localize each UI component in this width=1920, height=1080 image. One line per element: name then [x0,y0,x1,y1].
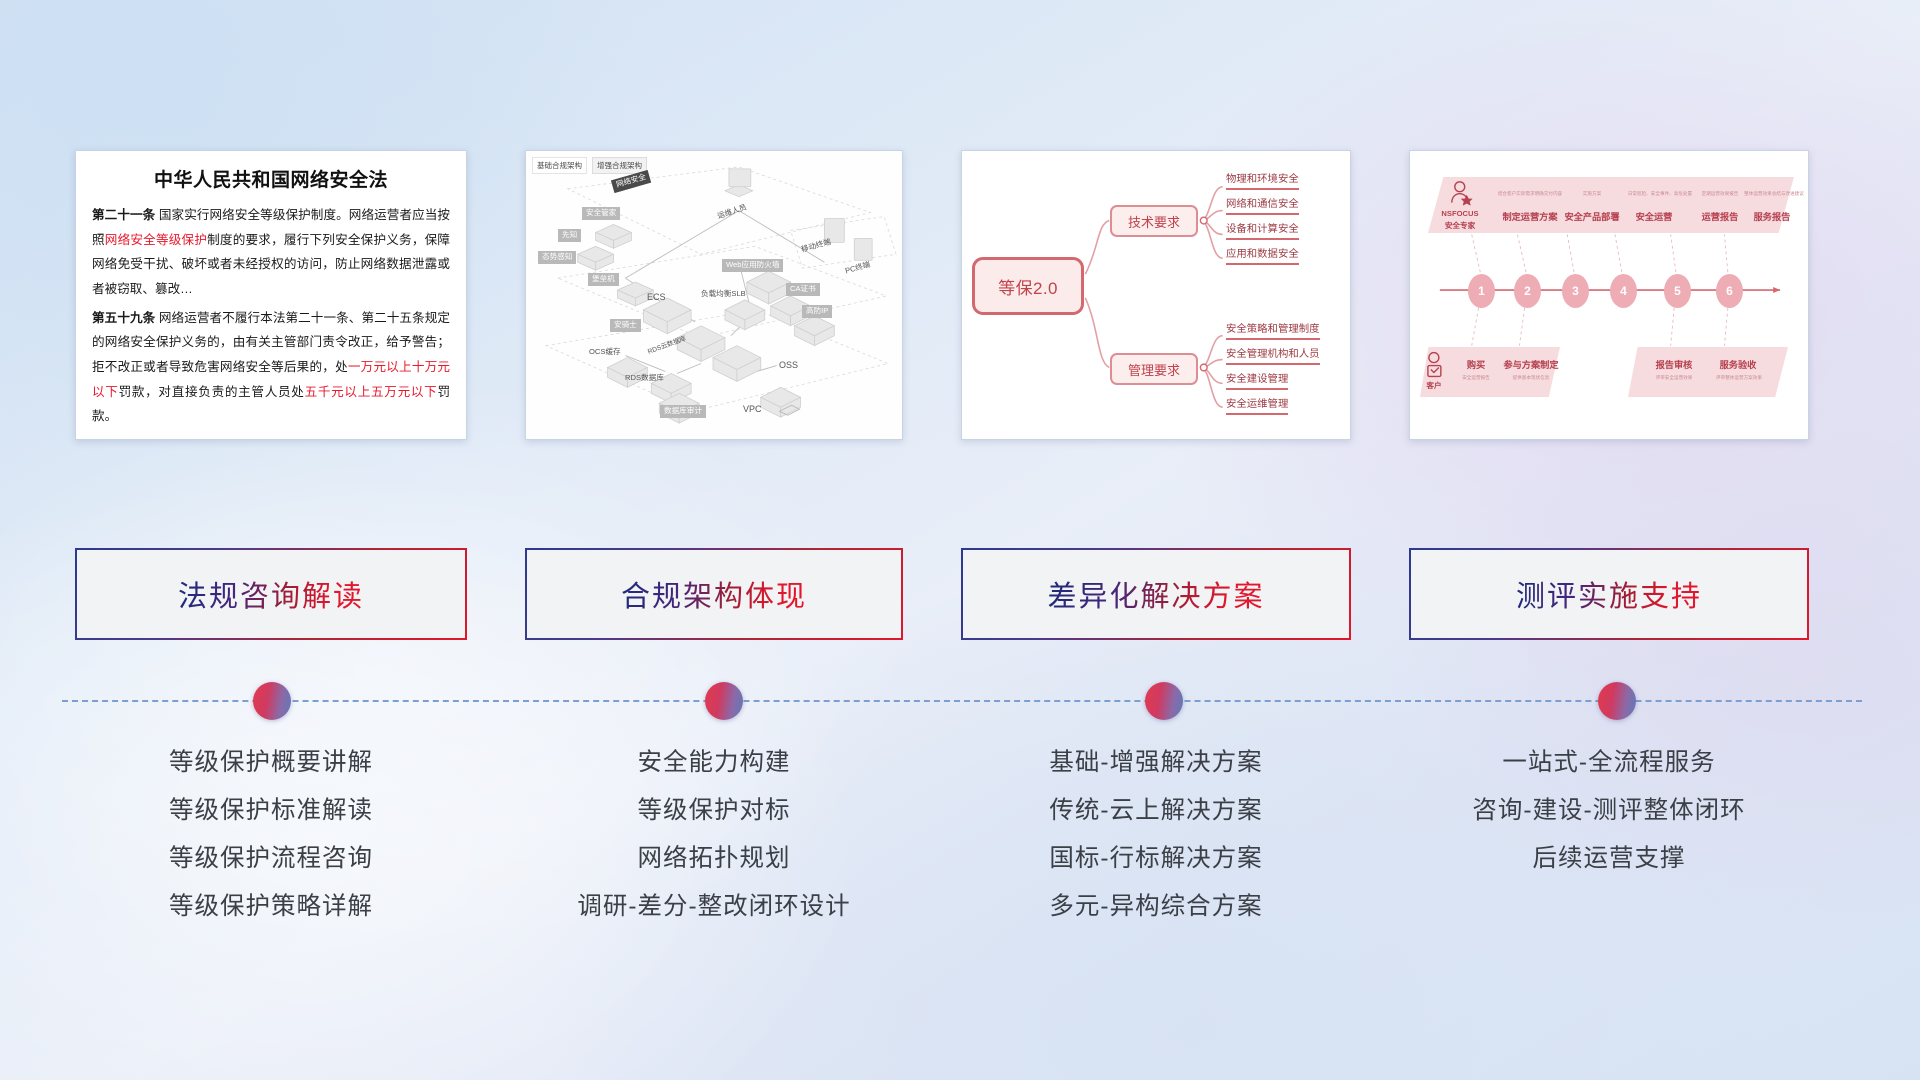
list-item: 一站式-全流程服务 [1502,742,1715,784]
list-item: 基础-增强解决方案 [1049,742,1262,784]
arch-node-anti-ddos-ip: 高防IP [802,305,832,318]
timeline-dot-2 [705,682,743,720]
headline-box-compliance-architecture[interactable]: 合规架构体现 [525,548,903,640]
mindmap-leaf-network-communication: 网络和通信安全 [1226,198,1299,215]
flow-bottom-sub-1: 安全运营报告 [1450,375,1502,381]
card-service-flow[interactable]: NSFOCUS 安全专家 客户 结合客户实际需求明确交付内容 制定运营方案 实施… [1409,150,1809,440]
flow-bottom-sub-4: 评审整体运营方案效果 [1704,375,1774,381]
arch-node-slb: 负载均衡SLB [698,289,749,300]
feature-lists-row: 等级保护概要讲解 等级保护标准解读 等级保护流程咨询 等级保护策略详解 安全能力… [75,742,1845,982]
article-21-label: 第二十一条 [92,208,155,222]
mindmap-root-node: 等保2.0 [972,257,1084,315]
architecture-diagram: 基础合规架构 增强合规架构 网络安全 安全管家 先知 态势感知 堡垒机 安骑士 … [526,151,902,439]
article-21-highlight: 网络安全等级保护 [105,233,207,247]
arch-node-oss: OSS [776,359,801,371]
mindmap-branch-management: 管理要求 [1110,353,1198,385]
list-item: 多元-异构综合方案 [1049,886,1262,928]
tag-basic-architecture: 基础合规架构 [532,157,587,174]
list-item: 咨询-建设-测评整体闭环 [1472,790,1745,832]
headline-label-2: 合规架构体现 [621,573,807,615]
flow-step-node-2: 2 [1514,274,1541,308]
flow-bottom-sub-2: 提供基本现状信息 [1500,375,1562,381]
list-item: 国标-行标解决方案 [1049,838,1262,880]
arch-node-waf: Web应用防火墙 [722,259,783,272]
list-item: 后续运营支撑 [1533,838,1686,880]
card-compliance-architecture[interactable]: 基础合规架构 增强合规架构 网络安全 安全管家 先知 态势感知 堡垒机 安骑士 … [525,150,903,440]
headline-box-differentiated-solution[interactable]: 差异化解决方案 [961,548,1351,640]
list-item: 安全能力构建 [638,742,791,784]
headline-label-3: 差异化解决方案 [1047,573,1264,615]
mindmap-branch-technical: 技术要求 [1110,205,1198,237]
arch-node-xianzhi: 先知 [558,229,581,242]
flow-top-sub-1: 结合客户实际需求明确交付内容 [1492,191,1568,197]
arch-node-security-butler: 安全管家 [582,207,620,220]
feature-list-column-3: 基础-增强解决方案 传统-云上解决方案 国标-行标解决方案 多元-异构综合方案 [961,742,1351,982]
list-item: 等级保护流程咨询 [169,838,373,880]
arch-node-bastion-host: 堡垒机 [588,273,619,286]
flow-step-node-5: 5 [1664,274,1691,308]
headline-box-regulation-consulting[interactable]: 法规咨询解读 [75,548,467,640]
list-item: 传统-云上解决方案 [1049,790,1262,832]
flow-role-provider-line1: NSFOCUS [1436,209,1484,218]
timeline-dot-4 [1598,682,1636,720]
law-article-59: 第五十九条 网络运营者不履行本法第二十一条、第二十五条规定的网络安全保护义务的，… [92,306,450,429]
timeline-dot-3 [1145,682,1183,720]
flow-role-customer: 客户 [1418,381,1450,390]
article-59-label: 第五十九条 [92,311,155,325]
mindmap: 等保2.0 技术要求 物理和环境安全 网络和通信安全 设备和计算安全 应用和数据… [962,151,1350,439]
flow-top-sub-2: 实施方案 [1560,191,1624,197]
flow-role-provider-line2: 安全专家 [1436,221,1484,230]
mindmap-leaf-application-data: 应用和数据安全 [1226,248,1299,265]
flow-step-node-1: 1 [1468,274,1495,308]
mindmap-leaf-ops-mgmt: 安全运维管理 [1226,398,1288,415]
timeline-dot-1 [253,682,291,720]
headline-boxes-row: 法规咨询解读 合规架构体现 差异化解决方案 测评实施支持 [75,548,1845,640]
slide-canvas: 中华人民共和国网络安全法 第二十一条 国家实行网络安全等级保护制度。网络运营者应… [0,0,1920,1080]
list-item: 调研-差分-整改闭环设计 [577,886,850,928]
mindmap-leaf-device-computing: 设备和计算安全 [1226,223,1299,240]
mindmap-leaf-security-policy: 安全策略和管理制度 [1226,323,1320,340]
flow-step-node-3: 3 [1562,274,1589,308]
flow-top-main-5: 服务报告 [1742,209,1802,223]
flow-bottom-main-4: 服务验收 [1710,357,1766,371]
list-item: 等级保护策略详解 [169,886,373,928]
article-59-text-b: 罚款，对直接负责的主管人员处 [119,385,305,399]
list-item: 等级保护标准解读 [169,790,373,832]
arch-node-anqishi: 安骑士 [610,319,641,332]
mindmap-leaf-construction-mgmt: 安全建设管理 [1226,373,1288,390]
feature-list-column-2: 安全能力构建 等级保护对标 网络拓扑规划 调研-差分-整改闭环设计 [525,742,903,982]
customer-avatar-icon [1428,353,1441,377]
headline-box-assessment-support[interactable]: 测评实施支持 [1409,548,1809,640]
flow-top-main-3: 安全运营 [1624,209,1684,223]
list-item: 网络拓扑规划 [638,838,791,880]
arch-node-situational-awareness: 态势感知 [538,251,576,264]
service-flow-diagram: NSFOCUS 安全专家 客户 结合客户实际需求明确交付内容 制定运营方案 实施… [1410,151,1808,439]
flow-bottom-sub-3: 评审安全运营效果 [1642,375,1706,381]
arch-node-ocs-cache: OCS缓存 [586,347,624,358]
card-mindmap-dengbao[interactable]: 等保2.0 技术要求 物理和环境安全 网络和通信安全 设备和计算安全 应用和数据… [961,150,1351,440]
flow-top-main-4: 运营报告 [1690,209,1750,223]
headline-label-1: 法规咨询解读 [178,573,364,615]
arch-node-vpc: VPC [740,403,765,415]
flow-top-main-2: 安全产品部署 [1556,209,1628,223]
article-59-highlight-2: 五千元以上五万元以下 [305,385,438,399]
arch-node-rds-database: RDS数据库 [622,373,667,384]
flow-step-node-4: 4 [1610,274,1637,308]
flow-bottom-main-1: 购买 [1454,357,1498,371]
list-item: 等级保护概要讲解 [169,742,373,784]
mindmap-leaf-physical-environment: 物理和环境安全 [1226,173,1299,190]
arch-node-ca-certificate: CA证书 [786,283,820,296]
timeline-dashed-line [62,700,1862,702]
reference-cards-row: 中华人民共和国网络安全法 第二十一条 国家实行网络安全等级保护制度。网络运营者应… [75,150,1845,440]
headline-label-4: 测评实施支持 [1516,573,1702,615]
list-item: 等级保护对标 [638,790,791,832]
flow-bottom-main-2: 参与方案制定 [1496,357,1566,371]
feature-list-column-1: 等级保护概要讲解 等级保护标准解读 等级保护流程咨询 等级保护策略详解 [75,742,467,982]
law-title: 中华人民共和国网络安全法 [92,165,450,192]
law-article-21: 第二十一条 国家实行网络安全等级保护制度。网络运营者应当按照网络安全等级保护制度… [92,203,450,302]
flow-bottom-main-3: 报告审核 [1646,357,1702,371]
card-cybersecurity-law[interactable]: 中华人民共和国网络安全法 第二十一条 国家实行网络安全等级保护制度。网络运营者应… [75,150,467,440]
arch-node-ecs: ECS [644,291,669,303]
flow-step-node-6: 6 [1716,274,1743,308]
feature-list-column-4: 一站式-全流程服务 咨询-建设-测评整体闭环 后续运营支撑 [1409,742,1809,982]
arch-node-database-audit: 数据库审计 [660,405,706,418]
flow-top-sub-5: 整体运营效果总结与改进建议 [1736,191,1809,197]
mindmap-leaf-org-personnel: 安全管理机构和人员 [1226,348,1320,365]
